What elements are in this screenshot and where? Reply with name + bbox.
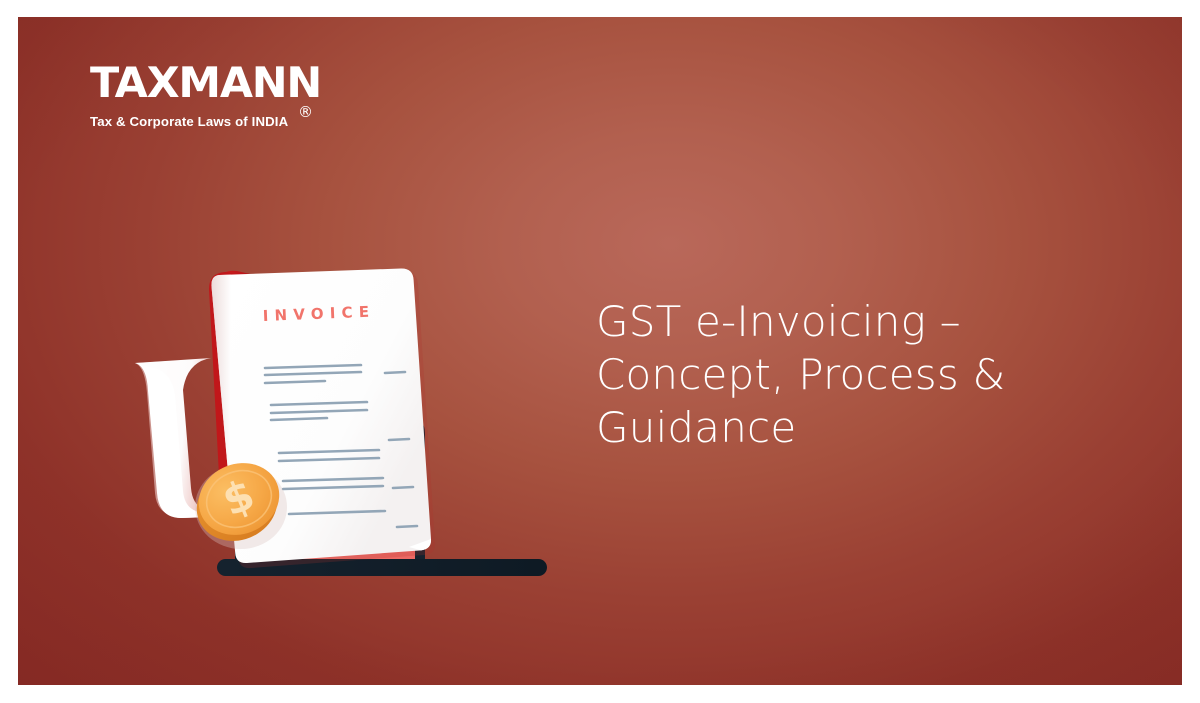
- page-title: GST e-Invoicing – Concept, Process & Gui…: [596, 295, 1066, 454]
- taxmann-tagline: Tax & Corporate Laws of INDIA: [90, 114, 320, 129]
- taxmann-wordmark: TAXMANN: [90, 61, 325, 105]
- registered-trademark-icon: ®: [298, 105, 313, 120]
- banner-canvas: TAXMANN ® Tax & Corporate Laws of INDIA …: [0, 0, 1200, 703]
- invoice-on-laptop-illustration: INVOICE: [113, 267, 593, 597]
- taxmann-logo[interactable]: TAXMANN ® Tax & Corporate Laws of INDIA: [90, 61, 320, 129]
- banner-background: TAXMANN ® Tax & Corporate Laws of INDIA …: [18, 17, 1182, 685]
